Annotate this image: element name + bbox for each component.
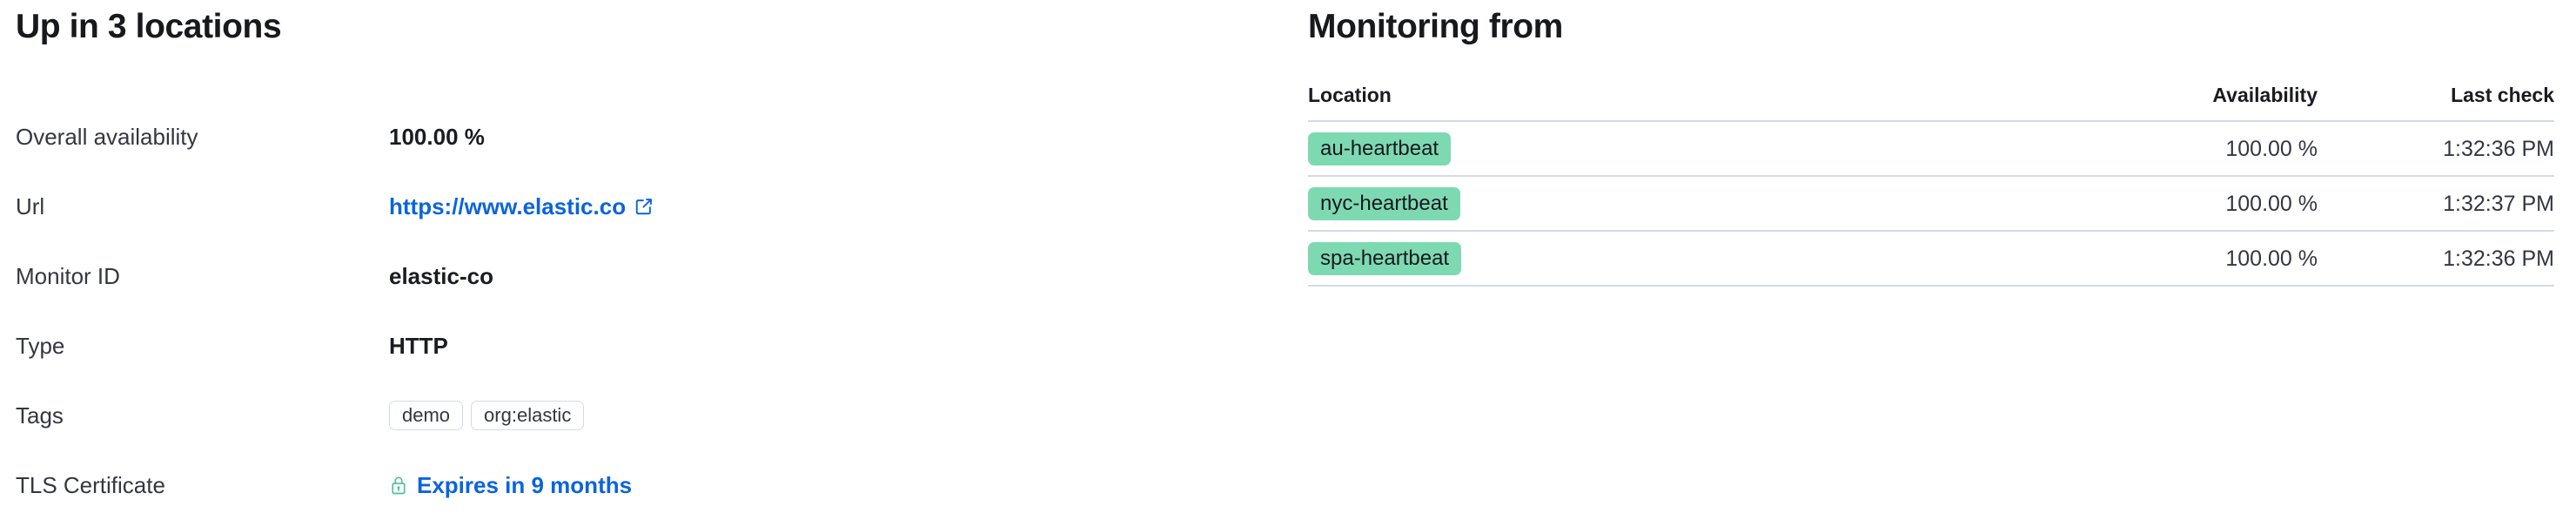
cell-availability: 100.00 %: [1917, 231, 2318, 286]
cell-last-check: 1:32:37 PM: [2318, 176, 2554, 231]
cell-location: nyc-heartbeat: [1308, 176, 1917, 231]
cell-location: au-heartbeat: [1308, 121, 1917, 176]
detail-row-tags: Tags demo org:elastic: [0, 381, 1218, 450]
column-header-availability[interactable]: Availability: [1917, 84, 2318, 121]
tls-certificate-link[interactable]: Expires in 9 months: [417, 471, 632, 499]
detail-label-tags: Tags: [0, 402, 389, 429]
cell-last-check: 1:32:36 PM: [2318, 231, 2554, 286]
monitor-detail-page: Up in 3 locations Overall availability 1…: [0, 0, 2576, 519]
detail-row-tls-certificate: TLS Certificate Expires in 9 months: [0, 450, 1218, 520]
cell-availability: 100.00 %: [1917, 176, 2318, 231]
monitoring-locations-table: Location Availability Last check au-hear…: [1308, 84, 2554, 287]
overall-availability-value: 100.00 %: [389, 123, 485, 151]
detail-label-monitor-id: Monitor ID: [0, 262, 389, 290]
table-row[interactable]: au-heartbeat 100.00 % 1:32:36 PM: [1308, 121, 2554, 176]
table-header: Location Availability Last check: [1308, 84, 2554, 121]
type-value: HTTP: [389, 332, 448, 360]
location-badge[interactable]: nyc-heartbeat: [1308, 187, 1460, 220]
detail-row-overall-availability: Overall availability 100.00 %: [0, 102, 1218, 172]
table-header-row: Location Availability Last check: [1308, 84, 2554, 121]
detail-value-tags: demo org:elastic: [389, 401, 1218, 430]
cell-location: spa-heartbeat: [1308, 231, 1917, 286]
detail-value-tls-certificate: Expires in 9 months: [389, 471, 1218, 499]
detail-value-overall-availability: 100.00 %: [389, 123, 1218, 151]
detail-row-type: Type HTTP: [0, 311, 1218, 381]
monitoring-locations-panel: Monitoring from Location Availability La…: [1288, 0, 2576, 519]
column-header-location[interactable]: Location: [1308, 84, 1917, 121]
detail-value-monitor-id: elastic-co: [389, 262, 1218, 290]
lock-icon: [389, 475, 408, 496]
detail-label-tls-certificate: TLS Certificate: [0, 471, 389, 499]
cell-availability: 100.00 %: [1917, 121, 2318, 176]
detail-value-url: https://www.elastic.co: [389, 192, 1218, 220]
cell-last-check: 1:32:36 PM: [2318, 121, 2554, 176]
detail-row-url: Url https://www.elastic.co: [0, 172, 1218, 241]
table-body: au-heartbeat 100.00 % 1:32:36 PM nyc-hea…: [1308, 121, 2554, 286]
tag-pill[interactable]: org:elastic: [471, 401, 584, 430]
external-link-icon: [634, 197, 654, 216]
monitoring-from-title: Monitoring from: [1308, 8, 1563, 46]
location-badge[interactable]: spa-heartbeat: [1308, 242, 1461, 275]
tls-certificate-status: Expires in 9 months: [389, 471, 632, 499]
page-title: Up in 3 locations: [16, 8, 281, 46]
detail-label-overall-availability: Overall availability: [0, 123, 389, 151]
tag-list: demo org:elastic: [389, 401, 584, 430]
monitor-id-value: elastic-co: [389, 262, 493, 290]
url-link[interactable]: https://www.elastic.co: [389, 192, 654, 220]
column-header-last-check[interactable]: Last check: [2318, 84, 2554, 121]
tag-pill[interactable]: demo: [389, 401, 463, 430]
table-row[interactable]: nyc-heartbeat 100.00 % 1:32:37 PM: [1308, 176, 2554, 231]
detail-label-type: Type: [0, 332, 389, 360]
detail-label-url: Url: [0, 192, 389, 220]
monitor-detail-list: Overall availability 100.00 % Url https:…: [0, 102, 1218, 520]
detail-value-type: HTTP: [389, 332, 1218, 360]
url-link-label: https://www.elastic.co: [389, 192, 626, 220]
location-badge[interactable]: au-heartbeat: [1308, 132, 1451, 165]
table-row[interactable]: spa-heartbeat 100.00 % 1:32:36 PM: [1308, 231, 2554, 286]
detail-row-monitor-id: Monitor ID elastic-co: [0, 241, 1218, 311]
